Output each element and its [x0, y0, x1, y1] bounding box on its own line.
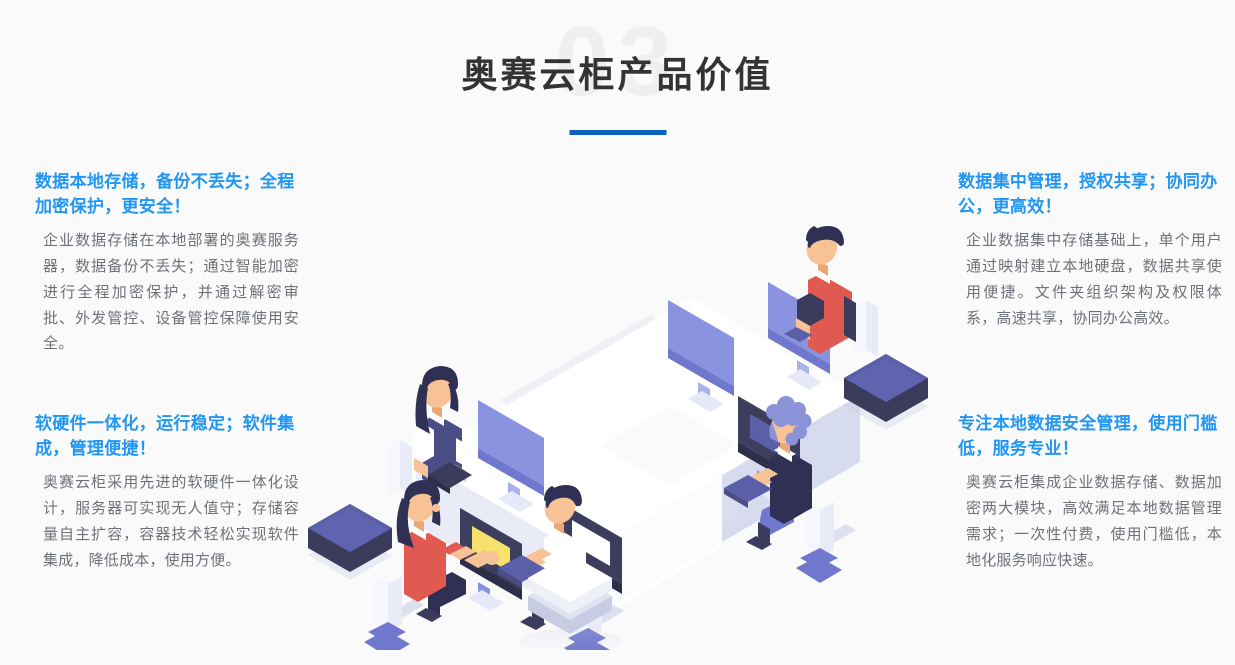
feature-body: 企业数据存储在本地部署的奥赛服务器，数据备份不丢失；通过智能加密进行全程加密保护…	[35, 228, 299, 357]
feature-heading: 软硬件一体化，运行稳定；软件集成，管理便捷！	[35, 412, 299, 461]
page-title: 奥赛云柜产品价值	[461, 46, 773, 98]
product-value-section: 03 奥赛云柜产品价值 数据本地存储，备份不丢失；全程加密保护，更安全！ 企业数…	[0, 0, 1235, 665]
feature-block-local-data-security: 专注本地数据安全管理，使用门槛低，服务专业！ 奥赛云柜集成企业数据存储、数据加密…	[958, 412, 1222, 573]
isometric-office-illustration	[300, 150, 940, 650]
feature-body: 奥赛云柜集成企业数据存储、数据加密两大模块，高效满足本地数据管理需求；一次性付费…	[958, 470, 1222, 573]
person-navy-vest-standing	[388, 366, 472, 495]
feature-body: 奥赛云柜采用先进的软硬件一体化设计，服务器可实现无人值守；存储容量自主扩容，容器…	[35, 470, 299, 573]
feature-heading: 数据本地存储，备份不丢失；全程加密保护，更安全！	[35, 170, 299, 219]
floor-shadow	[518, 629, 622, 650]
feature-block-centralized-management: 数据集中管理，授权共享；协同办公，更高效！ 企业数据集中存储基础上，单个用户通过…	[958, 170, 1222, 331]
person-red-shirt-standing	[784, 226, 878, 357]
server-box-left	[308, 504, 392, 580]
feature-body: 企业数据集中存储基础上，单个用户通过映射建立本地硬盘，数据共享使用便捷。文件夹组…	[958, 228, 1222, 331]
title-underline-rule	[569, 130, 666, 135]
section-header: 03 奥赛云柜产品价值	[0, 0, 1235, 150]
feature-block-data-local-storage: 数据本地存储，备份不丢失；全程加密保护，更安全！ 企业数据存储在本地部署的奥赛服…	[35, 170, 299, 357]
feature-heading: 数据集中管理，授权共享；协同办公，更高效！	[958, 170, 1222, 219]
feature-heading: 专注本地数据安全管理，使用门槛低，服务专业！	[958, 412, 1222, 461]
feature-block-software-hardware-integration: 软硬件一体化，运行稳定；软件集成，管理便捷！ 奥赛云柜采用先进的软硬件一体化设计…	[35, 412, 299, 573]
